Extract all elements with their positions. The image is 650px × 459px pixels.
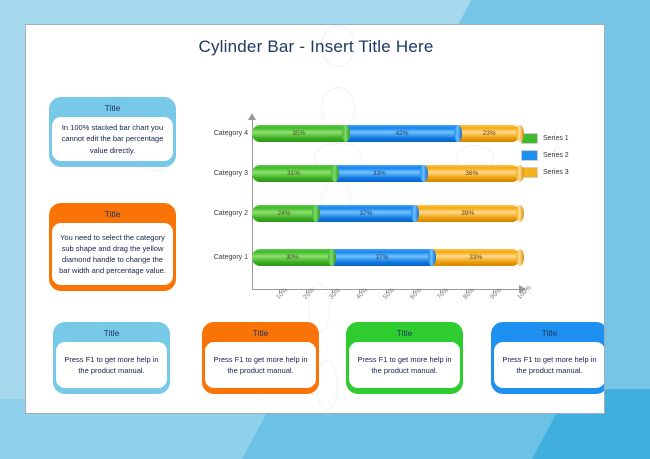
watermark-ellipse xyxy=(316,360,338,410)
callout-note-2-text: You need to select the category sub shap… xyxy=(52,223,173,285)
bar-segment[interactable]: 24% xyxy=(252,205,316,222)
callout-bottom-2[interactable]: Title Press F1 to get more help in the p… xyxy=(202,322,319,394)
bar-row[interactable]: 30%37%33% xyxy=(252,249,520,266)
callout-bottom-3-text: Press F1 to get more help in the product… xyxy=(349,342,460,388)
callout-note-1[interactable]: Title In 100% stacked bar chart you cann… xyxy=(49,97,176,167)
bar-row[interactable]: 24%37%39% xyxy=(252,205,520,222)
bar-segment[interactable]: 30% xyxy=(252,249,332,266)
legend-swatch xyxy=(521,150,538,161)
callout-bottom-4-title: Title xyxy=(494,325,605,342)
callout-note-2-title: Title xyxy=(52,206,173,223)
legend-item[interactable]: Series 1 xyxy=(521,133,601,144)
cylinder-cap xyxy=(516,205,524,222)
bar-segment[interactable]: 36% xyxy=(424,165,520,182)
callout-bottom-4-text: Press F1 to get more help in the product… xyxy=(494,342,605,388)
bar-row[interactable]: 35%42%23% xyxy=(252,125,520,142)
legend-label: Series 3 xyxy=(543,169,569,176)
callout-bottom-3-title: Title xyxy=(349,325,460,342)
bar-segment-value-label: 24% xyxy=(278,210,291,217)
bar-segment[interactable]: 33% xyxy=(432,249,520,266)
callout-bottom-1[interactable]: Title Press F1 to get more help in the p… xyxy=(53,322,170,394)
bar-row[interactable]: 31%33%36% xyxy=(252,165,520,182)
cylinder-cap xyxy=(420,165,428,182)
bar-segment-value-label: 31% xyxy=(287,170,300,177)
page-background: Cylinder Bar - Insert Title Here Title I… xyxy=(0,0,650,459)
bar-segment[interactable]: 42% xyxy=(346,125,459,142)
bar-segment-value-label: 37% xyxy=(359,210,372,217)
callout-bottom-1-text: Press F1 to get more help in the product… xyxy=(56,342,167,388)
bar-segment[interactable]: 35% xyxy=(252,125,346,142)
bar-segment[interactable]: 39% xyxy=(415,205,520,222)
bar-segment-value-label: 33% xyxy=(373,170,386,177)
page-title: Cylinder Bar - Insert Title Here xyxy=(26,37,605,57)
cylinder-cap xyxy=(342,125,350,142)
bar-segment-value-label: 36% xyxy=(465,170,478,177)
category-label: Category 1 xyxy=(204,254,248,261)
callout-note-1-text: In 100% stacked bar chart you cannot edi… xyxy=(52,117,173,161)
drawing-canvas[interactable]: Cylinder Bar - Insert Title Here Title I… xyxy=(25,24,605,414)
callout-bottom-3[interactable]: Title Press F1 to get more help in the p… xyxy=(346,322,463,394)
callout-note-1-title: Title xyxy=(52,100,173,117)
bar-segment-value-label: 23% xyxy=(483,130,496,137)
category-label: Category 2 xyxy=(204,210,248,217)
legend-label: Series 2 xyxy=(543,152,569,159)
callout-bottom-2-title: Title xyxy=(205,325,316,342)
cylinder-cap xyxy=(516,125,524,142)
cylinder-cap xyxy=(516,165,524,182)
legend-item[interactable]: Series 3 xyxy=(521,167,601,178)
bar-segment[interactable]: 23% xyxy=(458,125,520,142)
bar-segment[interactable]: 31% xyxy=(252,165,335,182)
cylinder-cap xyxy=(516,249,524,266)
bar-segment-value-label: 35% xyxy=(292,130,305,137)
bar-segment-value-label: 37% xyxy=(375,254,388,261)
category-label: Category 3 xyxy=(204,170,248,177)
bar-segment-value-label: 42% xyxy=(396,130,409,137)
callout-bottom-2-text: Press F1 to get more help in the product… xyxy=(205,342,316,388)
cylinder-cap xyxy=(428,249,436,266)
callout-note-2[interactable]: Title You need to select the category su… xyxy=(49,203,176,291)
bar-segment-value-label: 39% xyxy=(461,210,474,217)
category-label: Category 4 xyxy=(204,130,248,137)
chart-legend: Series 1Series 2Series 3 xyxy=(521,133,601,184)
bar-segment-value-label: 33% xyxy=(469,254,482,261)
callout-bottom-4[interactable]: Title Press F1 to get more help in the p… xyxy=(491,322,605,394)
bar-segment-value-label: 30% xyxy=(286,254,299,261)
callout-bottom-1-title: Title xyxy=(56,325,167,342)
bar-segment[interactable]: 33% xyxy=(335,165,423,182)
legend-label: Series 1 xyxy=(543,135,569,142)
legend-item[interactable]: Series 2 xyxy=(521,150,601,161)
bar-segment[interactable]: 37% xyxy=(332,249,431,266)
bar-segment[interactable]: 37% xyxy=(316,205,415,222)
